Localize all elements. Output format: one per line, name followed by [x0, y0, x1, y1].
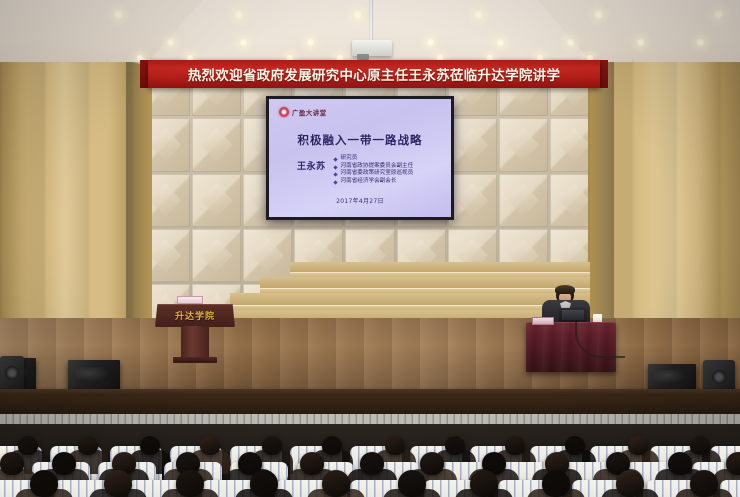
moving-head-light-icon	[703, 360, 735, 392]
speaker-at-table	[520, 286, 620, 374]
audience-member-head	[616, 470, 644, 497]
audience-member-head	[52, 452, 76, 475]
welcome-banner: 热烈欢迎省政府发展研究中心原主任王永苏莅临升达学院讲学	[148, 60, 600, 88]
acoustic-panel-tile	[192, 118, 241, 171]
speaker-hair	[555, 285, 575, 294]
downlight-icon	[306, 38, 315, 47]
audience-member-head	[505, 436, 525, 455]
audience-member-head	[565, 436, 585, 455]
downlight-icon	[496, 38, 505, 47]
acoustic-panel-tile	[192, 174, 241, 227]
lecture-hall-photo: 热烈欢迎省政府发展研究中心原主任王永苏莅临升达学院讲学 广盈大讲堂 积极融入一带…	[0, 0, 740, 497]
stage-monitor-speaker-icon	[648, 364, 696, 391]
audience-member-head	[18, 436, 38, 455]
audience-member-head	[668, 452, 692, 475]
downlight-icon	[473, 9, 484, 20]
audience-member-head	[200, 436, 220, 455]
nameplate	[532, 317, 554, 325]
downlight-icon	[352, 9, 363, 20]
audience-member-head	[628, 436, 648, 455]
slide-bullet: 河南省委政策研究室原巡视员	[334, 170, 414, 178]
slide-bullet: 研究员	[334, 155, 414, 163]
acoustic-panel-tile	[499, 118, 548, 171]
podium-column	[181, 326, 209, 359]
banner-text: 热烈欢迎省政府发展研究中心原主任王永苏莅临升达学院讲学	[188, 64, 561, 84]
audience-member-head	[690, 436, 710, 455]
slide-bullet: 河南省经济学会副会长	[334, 178, 414, 186]
slide-bullet-list: 研究员河南省政协提案委员会副主任河南省委政策研究室原巡视员河南省经济学会副会长	[334, 155, 414, 185]
audience-member-head	[445, 436, 465, 455]
downlight-icon	[426, 38, 435, 47]
audience-member-head	[690, 470, 718, 497]
audience-member-head	[322, 470, 350, 497]
podium: 升达学院	[155, 296, 235, 366]
downlight-icon	[713, 9, 724, 20]
downlight-icon	[593, 9, 604, 20]
moving-head-light-icon	[0, 356, 24, 390]
projector-mount-rod	[369, 0, 373, 42]
acoustic-panel-tile	[448, 174, 497, 227]
audience-area	[0, 424, 740, 497]
audience-member-head	[542, 470, 570, 497]
slide-logo-mark-icon	[279, 107, 289, 117]
audience-member-head	[726, 452, 740, 475]
stage-monitor-speaker-icon	[68, 360, 120, 390]
audience-member-head	[78, 436, 98, 455]
downlight-icon	[113, 9, 124, 20]
audience-member-head	[300, 452, 324, 475]
audience-member-head	[140, 436, 160, 455]
audience-member-head	[104, 470, 132, 497]
audience-member-head	[0, 452, 24, 475]
audience-member-head	[470, 470, 498, 497]
slide-logo-text: 广盈大讲堂	[292, 107, 327, 117]
podium-base	[173, 357, 217, 363]
audience-member-head	[398, 470, 426, 497]
laptop-screen	[562, 310, 584, 320]
audience-member-head	[360, 452, 384, 475]
slide-speaker-name: 王永苏	[297, 155, 326, 172]
presentation-slide: 广盈大讲堂 积极融入一带一路战略 王永苏 研究员河南省政协提案委员会副主任河南省…	[269, 99, 451, 217]
audience-member-head	[322, 436, 342, 455]
podium-label: 升达学院	[155, 309, 235, 322]
downlight-icon	[233, 9, 244, 20]
audience-member-head	[262, 436, 282, 455]
downlight-icon	[566, 38, 575, 47]
slide-body: 王永苏 研究员河南省政协提案委员会副主任河南省委政策研究室原巡视员河南省经济学会…	[297, 155, 435, 185]
audience-member-head	[30, 470, 58, 497]
slide-title: 积极融入一带一路战略	[269, 132, 451, 148]
downlight-icon	[239, 38, 248, 47]
slide-date: 2017年4月27日	[269, 196, 451, 205]
downlight-icon	[696, 38, 705, 47]
podium-paper-slip	[177, 296, 203, 304]
projection-screen: 广盈大讲堂 积极融入一带一路战略 王永苏 研究员河南省政协提案委员会副主任河南省…	[266, 96, 454, 220]
downlight-icon	[166, 38, 175, 47]
acoustic-panel-tile	[499, 174, 548, 227]
acoustic-panel-tile	[448, 118, 497, 171]
audience-member-head	[420, 452, 444, 475]
audience-member-head	[385, 436, 405, 455]
audience-member-head	[176, 470, 204, 497]
audience-member-head	[250, 470, 278, 497]
downlight-icon	[636, 38, 645, 47]
slide-logo: 广盈大讲堂	[279, 107, 327, 117]
